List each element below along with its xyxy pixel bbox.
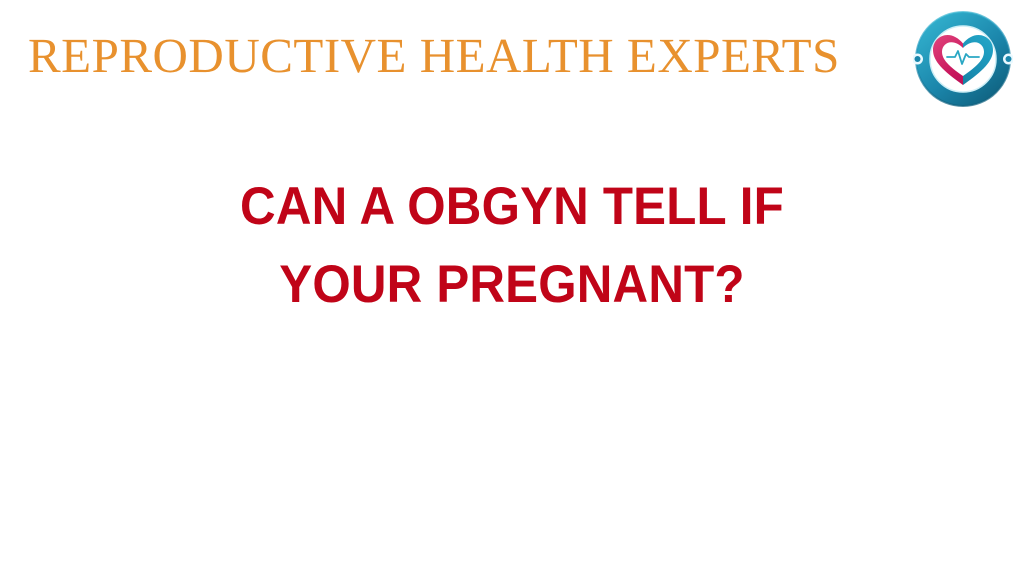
content-area — [0, 340, 1024, 576]
heart-in-circle-logo-icon — [913, 9, 1013, 109]
page-title-line-1: CAN A OBGYN TELL IF — [36, 178, 988, 236]
brand-header: REPRODUCTIVE HEALTH EXPERTS — [0, 0, 1024, 120]
slide-canvas: REPRODUCTIVE HEALTH EXPERTS — [0, 0, 1024, 576]
page-title: CAN A OBGYN TELL IF YOUR PREGNANT? — [0, 178, 1024, 314]
brand-title: REPRODUCTIVE HEALTH EXPERTS — [28, 26, 868, 86]
page-title-line-2: YOUR PREGNANT? — [36, 256, 988, 314]
